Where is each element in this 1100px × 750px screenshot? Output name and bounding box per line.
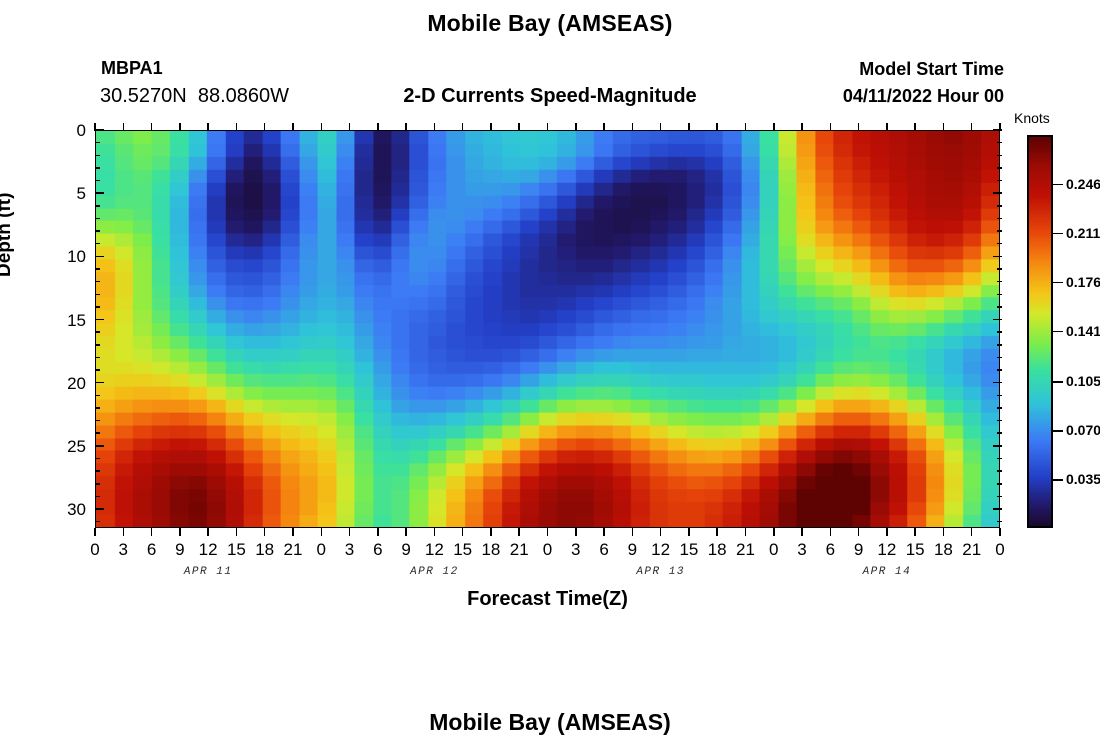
x-axis-tick-top [858,123,860,131]
x-axis-tick-label: 18 [255,540,274,560]
y-axis-minor-tick [95,281,100,283]
x-axis-tick-label: 15 [227,540,246,560]
x-axis-tick [688,528,690,536]
x-axis-tick-label: 9 [628,540,637,560]
colorbar-tick-mark [1053,381,1063,383]
y-axis-tick-marks [95,130,109,528]
colorbar-tick-label: 0.211 [1066,225,1100,241]
y-axis-minor-tick [95,294,100,296]
x-axis-tick-label: 15 [906,540,925,560]
x-axis-tick-top [264,123,266,131]
colorbar-tick-label: 0.035 [1066,471,1100,487]
x-axis-tick [886,528,888,536]
x-axis-day-label: APR 12 [410,566,459,578]
y-axis-minor-tick [95,180,100,182]
x-axis-tick-label: 9 [175,540,184,560]
colorbar-tick-mark [1053,430,1063,432]
colorbar-tick-label: 0.141 [1066,323,1100,339]
x-axis-tick-top [434,123,436,131]
x-axis-tick-label: 3 [571,540,580,560]
chart-page: Mobile Bay (AMSEAS) MBPA1 30.5270N 88.08… [0,0,1100,750]
y-axis-minor-tick [95,205,100,207]
y-axis-minor-tick-right [997,344,1002,346]
x-axis-tick [179,528,181,536]
x-axis-tick-top [123,123,125,131]
x-axis-tick-label: 15 [679,540,698,560]
y-axis-minor-tick-right [997,243,1002,245]
x-axis-tick-top [914,123,916,131]
x-axis-tick-label: 12 [425,540,444,560]
x-axis-tick [660,528,662,536]
y-axis-major-tick [95,256,104,258]
y-axis-minor-tick [95,218,100,220]
x-axis-tick-label: 12 [877,540,896,560]
x-axis-day-labels: APR 11APR 12APR 13APR 14 [95,566,1000,584]
x-axis-tick-label: 18 [481,540,500,560]
colorbar-tick-mark [1053,233,1063,235]
colorbar-tick-label: 0.070 [1066,422,1100,438]
x-axis-tick [575,528,577,536]
colorbar-canvas [1029,137,1051,526]
y-axis-minor-tick [95,357,100,359]
y-axis-tick-marks-right [992,130,1002,528]
y-axis-minor-tick-right [997,155,1002,157]
colorbar-tick-label: 0.176 [1066,274,1100,290]
x-axis-tick-top [179,123,181,131]
x-axis-tick-top [943,123,945,131]
y-axis-tick-label: 20 [46,374,86,394]
y-axis-major-tick-right [993,508,1002,510]
x-axis-tick-label: 6 [373,540,382,560]
x-axis-title: Forecast Time(Z) [95,588,1000,611]
x-axis-tick-top [603,123,605,131]
x-axis-tick-label: 21 [736,540,755,560]
x-axis-tick-label: 0 [995,540,1004,560]
x-axis-tick-top [999,123,1001,131]
x-axis-tick-marks [95,528,1000,538]
x-axis-tick [377,528,379,536]
x-axis-tick [943,528,945,536]
heatmap-canvas [96,131,999,527]
x-axis-tick [349,528,351,536]
x-axis-tick-top [405,123,407,131]
y-axis-minor-tick-right [997,268,1002,270]
y-axis-minor-tick-right [997,395,1002,397]
y-axis-minor-tick-right [997,470,1002,472]
y-axis-minor-tick-right [997,483,1002,485]
x-axis-tick-label: 12 [199,540,218,560]
y-axis-tick-label: 0 [46,121,86,141]
colorbar [1027,135,1053,528]
bottom-caption: Mobile Bay (AMSEAS) [0,709,1100,736]
y-axis-minor-tick-right [997,432,1002,434]
colorbar-tick-mark [1053,282,1063,284]
x-axis-tick-top [292,123,294,131]
x-axis-tick-top [773,123,775,131]
y-axis-minor-tick-right [997,294,1002,296]
y-axis-minor-tick [95,458,100,460]
x-axis-tick [999,528,1001,536]
y-axis-minor-tick-right [997,218,1002,220]
x-axis-tick-top [575,123,577,131]
y-axis-major-tick [95,319,104,321]
y-axis-minor-tick [95,521,100,523]
y-axis-minor-tick-right [997,230,1002,232]
x-axis-tick-top [236,123,238,131]
x-axis-tick [207,528,209,536]
x-axis-tick [801,528,803,536]
x-axis-tick-label: 18 [934,540,953,560]
y-axis-minor-tick [95,432,100,434]
heatmap-plot-area [95,130,1000,528]
x-axis-tick-top [207,123,209,131]
x-axis-tick [321,528,323,536]
y-axis-tick-label: 30 [46,500,86,520]
y-axis-minor-tick [95,420,100,422]
y-axis-tick-label: 5 [46,184,86,204]
x-axis-tick [547,528,549,536]
y-axis-minor-tick-right [997,180,1002,182]
y-axis-minor-tick [95,395,100,397]
y-axis-tick-label: 10 [46,247,86,267]
y-axis-minor-tick-right [997,205,1002,207]
x-axis-tick-top [971,123,973,131]
y-axis-minor-tick-right [997,458,1002,460]
colorbar-title: Knots [1014,110,1050,126]
x-axis-tick [123,528,125,536]
x-axis-tick [773,528,775,536]
y-axis-minor-tick [95,167,100,169]
y-axis-minor-tick-right [997,167,1002,169]
x-axis-tick-label: 0 [543,540,552,560]
x-axis-tick-label: 0 [769,540,778,560]
colorbar-tick-marks [1053,135,1065,528]
y-axis-minor-tick [95,407,100,409]
y-axis-minor-tick [95,483,100,485]
x-axis-tick-label: 9 [854,540,863,560]
colorbar-tick-mark [1053,331,1063,333]
x-axis-tick-label: 9 [401,540,410,560]
x-axis-day-label: APR 14 [863,566,912,578]
x-axis-day-label: APR 11 [184,566,233,578]
y-axis-minor-tick [95,243,100,245]
y-axis-major-tick-right [993,192,1002,194]
x-axis-tick-label: 0 [317,540,326,560]
x-axis-tick-top [151,123,153,131]
y-axis-minor-tick-right [997,306,1002,308]
y-axis-minor-tick [95,268,100,270]
y-axis-minor-tick [95,344,100,346]
x-axis-tick [236,528,238,536]
colorbar-tick-label: 0.246 [1066,176,1100,192]
x-axis-tick-label: 21 [962,540,981,560]
x-axis-tick-marks-top [95,122,1000,131]
x-axis-tick [603,528,605,536]
y-axis-minor-tick-right [997,521,1002,523]
y-axis-major-tick [95,445,104,447]
x-axis-tick-label: 3 [119,540,128,560]
model-start-time-value: 04/11/2022 Hour 00 [0,86,1004,107]
y-axis-minor-tick [95,142,100,144]
x-axis-tick-top [801,123,803,131]
x-axis-tick-top [490,123,492,131]
y-axis-minor-tick [95,331,100,333]
y-axis-major-tick-right [993,256,1002,258]
model-start-time-label: Model Start Time [0,59,1004,80]
x-axis-tick-label: 21 [284,540,303,560]
y-axis-minor-tick [95,155,100,157]
x-axis-tick-label: 15 [453,540,472,560]
x-axis-tick-top [688,123,690,131]
x-axis-tick-top [716,123,718,131]
x-axis-tick [292,528,294,536]
x-axis-tick [405,528,407,536]
y-axis-major-tick [95,382,104,384]
x-axis-tick-top [660,123,662,131]
x-axis-tick [914,528,916,536]
y-axis-major-tick [95,508,104,510]
y-axis-minor-tick-right [997,281,1002,283]
y-axis-title: Depth (ft) [0,193,16,277]
x-axis-tick [858,528,860,536]
x-axis-tick-labels: 0369121518210369121518210369121518210369… [95,540,1000,564]
colorbar-tick-label: 0.105 [1066,373,1100,389]
x-axis-tick-label: 6 [147,540,156,560]
y-axis-minor-tick-right [997,369,1002,371]
x-axis-tick [434,528,436,536]
x-axis-tick-label: 0 [90,540,99,560]
x-axis-tick [490,528,492,536]
x-axis-tick [716,528,718,536]
x-axis-tick-top [745,123,747,131]
y-axis-tick-label: 15 [46,311,86,331]
x-axis-tick-label: 6 [826,540,835,560]
y-axis-major-tick [95,192,104,194]
x-axis-tick-label: 6 [599,540,608,560]
y-axis-minor-tick [95,230,100,232]
y-axis-minor-tick-right [997,420,1002,422]
x-axis-tick-top [518,123,520,131]
x-axis-tick-label: 3 [345,540,354,560]
x-axis-tick-top [377,123,379,131]
y-axis-minor-tick-right [997,357,1002,359]
y-axis-minor-tick [95,470,100,472]
x-axis-tick-label: 21 [510,540,529,560]
x-axis-tick [94,528,96,536]
x-axis-tick-top [547,123,549,131]
y-axis-major-tick-right [993,319,1002,321]
y-axis-minor-tick-right [997,331,1002,333]
x-axis-tick [745,528,747,536]
x-axis-tick [264,528,266,536]
x-axis-day-label: APR 13 [636,566,685,578]
x-axis-tick [632,528,634,536]
colorbar-tick-mark [1053,479,1063,481]
x-axis-tick [518,528,520,536]
colorbar-tick-mark [1053,184,1063,186]
y-axis-minor-tick [95,306,100,308]
y-axis-minor-tick [95,496,100,498]
colorbar-tick-labels: 0.2460.2110.1760.1410.1050.0700.035 [1066,135,1100,528]
x-axis-tick [462,528,464,536]
x-axis-tick-label: 3 [797,540,806,560]
y-axis-tick-labels: 051015202530 [42,130,86,528]
x-axis-tick-label: 12 [651,540,670,560]
x-axis-tick-top [632,123,634,131]
x-axis-tick-top [462,123,464,131]
x-axis-tick [830,528,832,536]
y-axis-minor-tick-right [997,496,1002,498]
x-axis-tick-top [830,123,832,131]
x-axis-tick-top [94,123,96,131]
x-axis-tick-top [349,123,351,131]
y-axis-minor-tick-right [997,142,1002,144]
page-title: Mobile Bay (AMSEAS) [0,10,1100,37]
x-axis-tick [151,528,153,536]
y-axis-major-tick-right [993,445,1002,447]
y-axis-tick-label: 25 [46,437,86,457]
x-axis-tick-top [886,123,888,131]
x-axis-tick [971,528,973,536]
x-axis-tick-label: 18 [708,540,727,560]
y-axis-minor-tick-right [997,407,1002,409]
y-axis-minor-tick [95,369,100,371]
x-axis-tick-top [321,123,323,131]
y-axis-major-tick-right [993,382,1002,384]
